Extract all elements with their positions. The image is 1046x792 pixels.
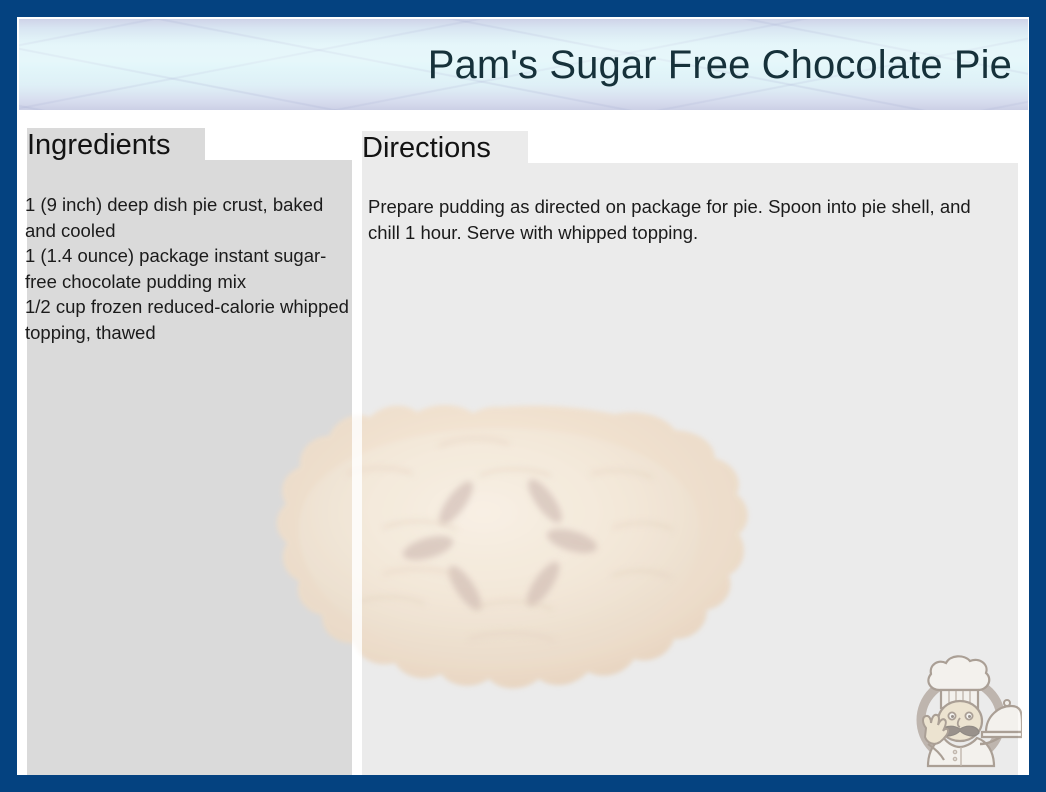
ingredients-heading: Ingredients	[27, 131, 171, 160]
tab-ingredients: Ingredients	[27, 128, 205, 162]
directions-panel	[362, 163, 1018, 775]
title-banner: Pam's Sugar Free Chocolate Pie	[19, 19, 1028, 110]
tab-directions: Directions	[362, 131, 528, 165]
ingredients-list: 1 (9 inch) deep dish pie crust, baked an…	[25, 192, 355, 345]
directions-heading: Directions	[362, 134, 491, 163]
panel-divider	[352, 160, 362, 775]
slide-border-right	[1029, 0, 1046, 792]
directions-text: Prepare pudding as directed on package f…	[368, 194, 993, 245]
slide-border-left	[0, 0, 17, 792]
slide-border-top	[0, 0, 1046, 17]
recipe-slide: Pam's Sugar Free Chocolate Pie	[0, 0, 1046, 792]
slide-border-bottom	[0, 775, 1046, 792]
recipe-title: Pam's Sugar Free Chocolate Pie	[428, 44, 1012, 86]
